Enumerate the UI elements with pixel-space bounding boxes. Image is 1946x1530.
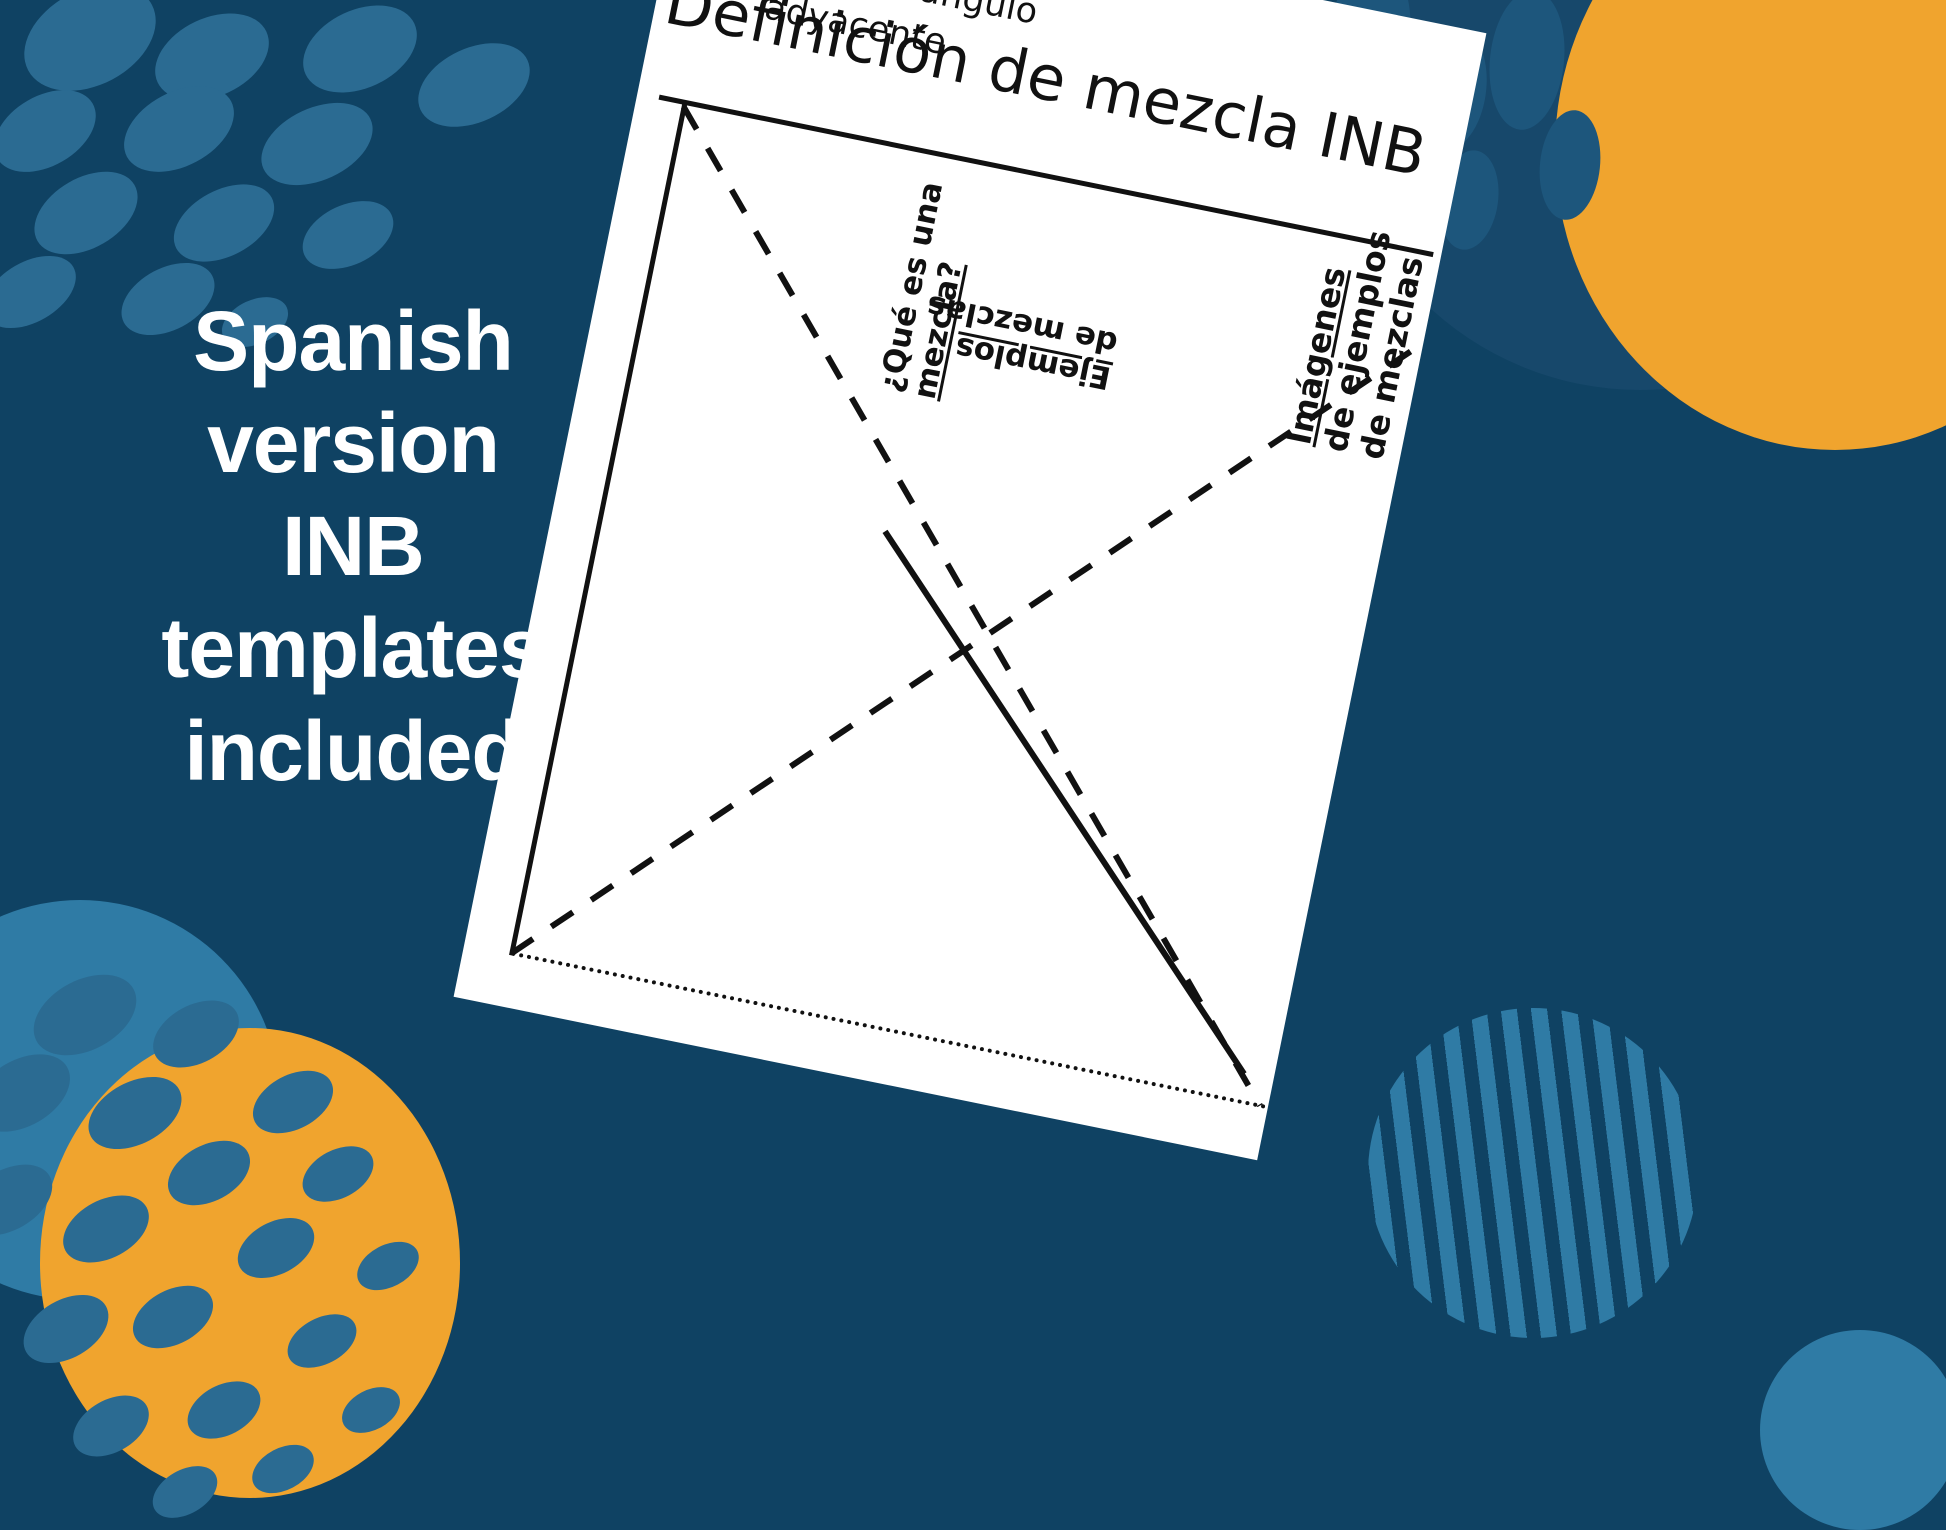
teal-circle-far-bottom-right [1760,1330,1946,1530]
decor-ellipse [0,241,88,343]
headline-line-2: version [118,392,588,494]
decor-ellipse [161,169,287,278]
headline-line-3: INB [118,495,588,597]
decor-ellipse [405,27,543,144]
worksheet-paper: Definición de mezcla INB ¿Qué es una mez… [454,0,1487,1160]
headline-line-1: Spanish [118,290,588,392]
decor-ellipse [6,0,174,112]
striped-circle-bottom-right [1337,977,1728,1368]
diagonal-solid [793,531,1335,1073]
decor-ellipse [20,155,152,272]
stripe-pattern [1337,977,1728,1368]
decor-ellipse [248,86,385,201]
worksheet-paper-container: Definición de mezcla INB ¿Qué es una mez… [454,0,1487,1160]
decor-ellipse [289,0,431,110]
decor-ellipse [292,188,404,283]
decor-ellipse [0,73,110,189]
diagonal-dashed-down [511,107,1432,1106]
